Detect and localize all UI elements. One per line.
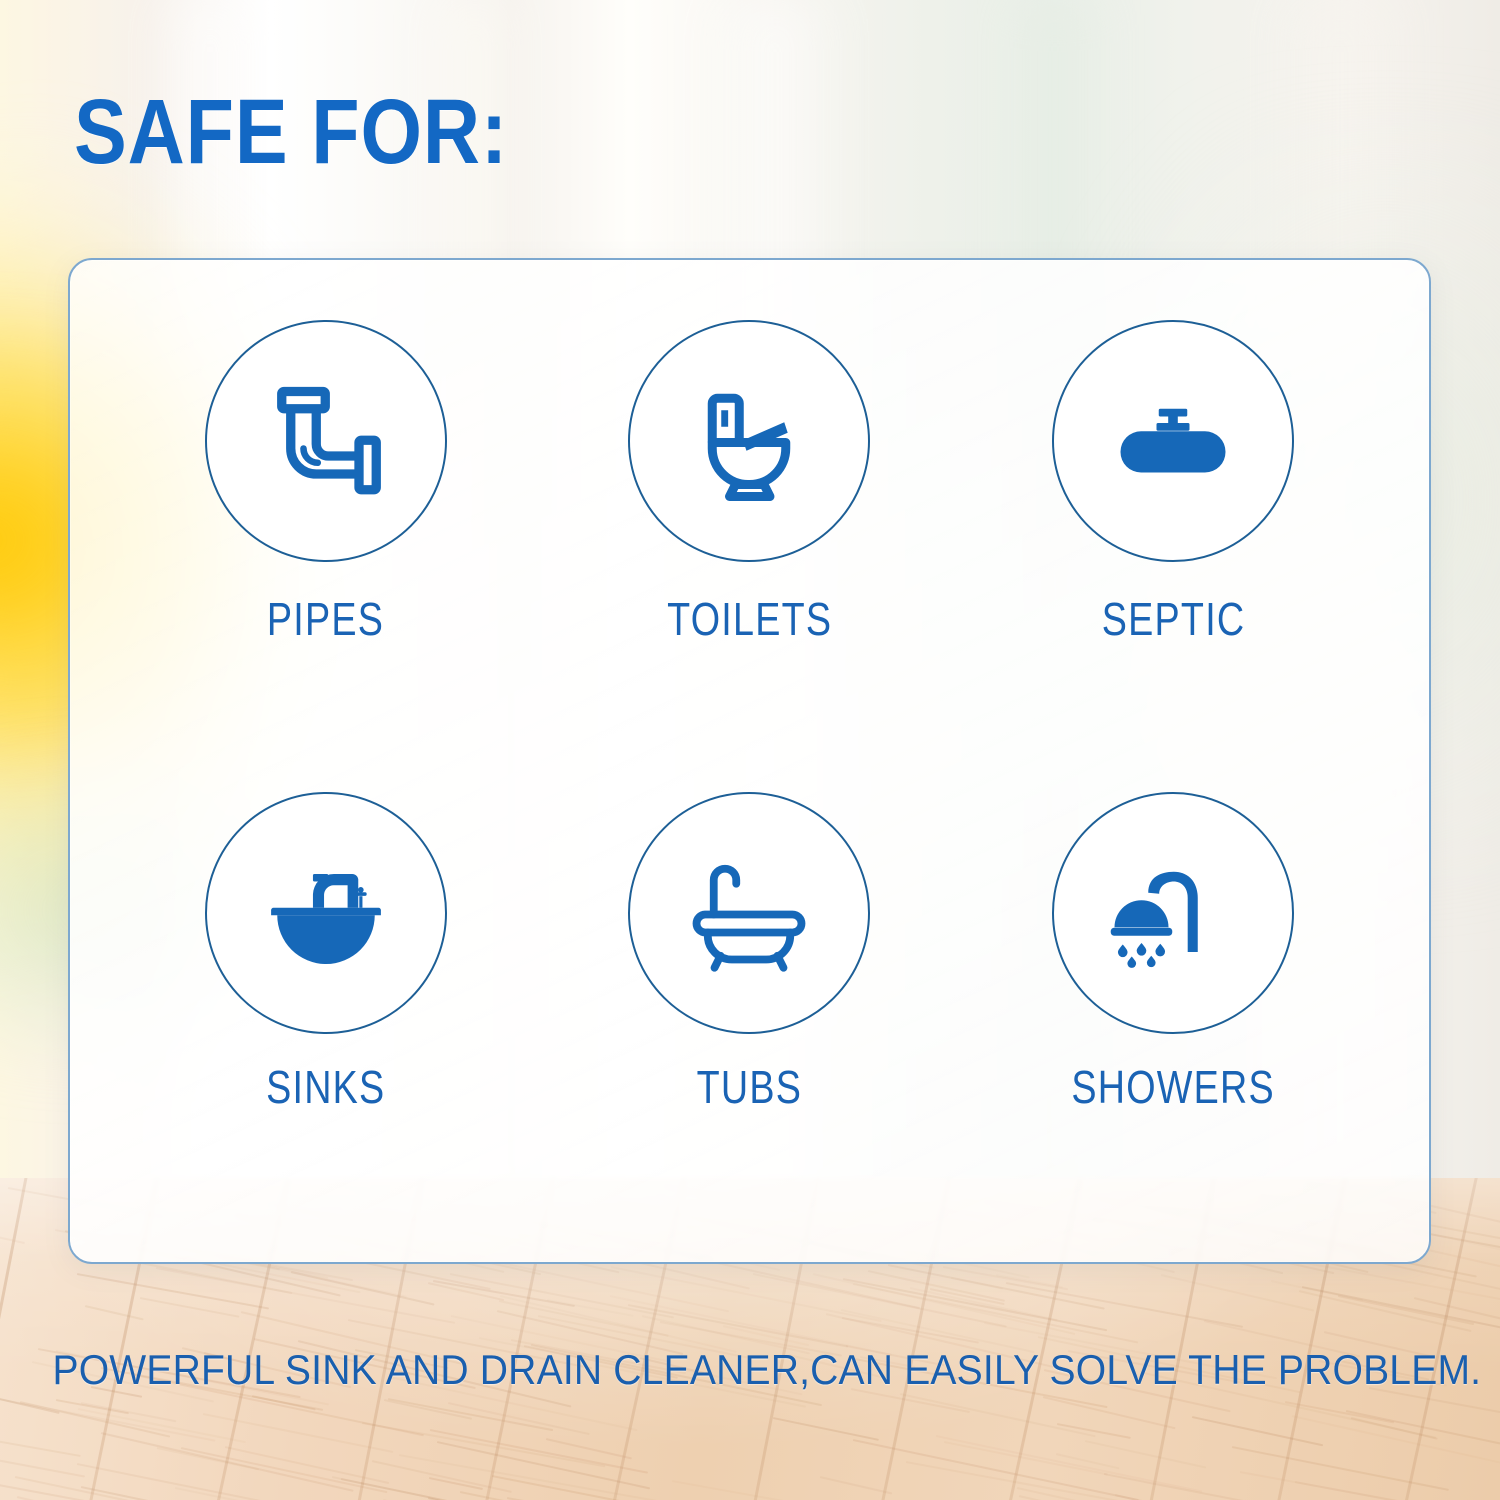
item-label: PIPES xyxy=(267,592,384,646)
grid-item-toilets[interactable]: TOILETS xyxy=(538,320,962,770)
septic-tank-icon xyxy=(1098,366,1248,516)
grid-item-showers[interactable]: SHOWERS xyxy=(961,770,1385,1220)
pipe-elbow-icon xyxy=(251,366,401,516)
septic-icon-badge xyxy=(1052,320,1294,562)
toilet-icon xyxy=(674,366,824,516)
showers-icon-badge xyxy=(1052,792,1294,1034)
grid-item-pipes[interactable]: PIPES xyxy=(114,320,538,770)
item-label: SEPTIC xyxy=(1101,592,1245,646)
grid-item-tubs[interactable]: TUBS xyxy=(538,770,962,1220)
item-label: TUBS xyxy=(697,1060,803,1114)
shower-head-icon xyxy=(1098,838,1248,988)
safe-for-grid: PIPES TOILETS xyxy=(68,258,1431,1264)
sinks-icon-badge xyxy=(205,792,447,1034)
bathtub-icon xyxy=(674,838,824,988)
grid-item-sinks[interactable]: SINKS xyxy=(114,770,538,1220)
tubs-icon-badge xyxy=(628,792,870,1034)
sink-basin-icon xyxy=(251,838,401,988)
page-title: SAFE FOR: xyxy=(74,86,508,178)
item-label: SHOWERS xyxy=(1071,1060,1275,1114)
footer-caption: POWERFUL SINK AND DRAIN CLEANER,CAN EASI… xyxy=(53,1346,1448,1394)
grid-item-septic[interactable]: SEPTIC xyxy=(961,320,1385,770)
item-label: TOILETS xyxy=(667,592,832,646)
toilets-icon-badge xyxy=(628,320,870,562)
item-label: SINKS xyxy=(266,1060,385,1114)
pipes-icon-badge xyxy=(205,320,447,562)
